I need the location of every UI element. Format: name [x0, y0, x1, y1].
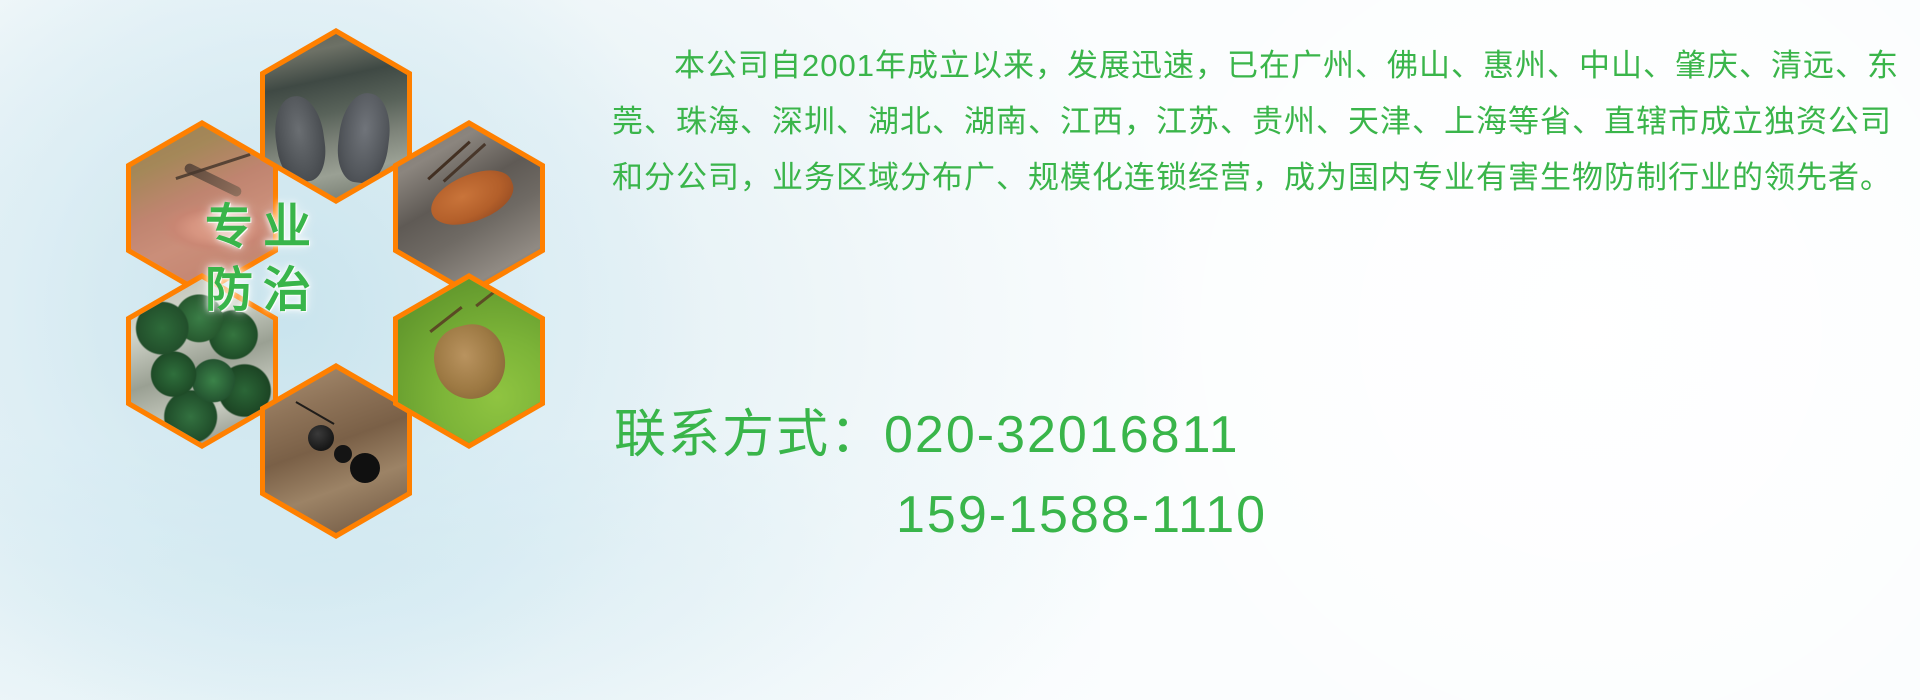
ant-photo	[265, 369, 407, 533]
hex-photo-cockroach	[393, 120, 545, 296]
hex-photo-flies	[126, 273, 278, 449]
stink-bug-photo	[398, 279, 540, 443]
hex-photo-rats	[260, 28, 412, 204]
hex-photo-mosquito	[126, 120, 278, 296]
pest-control-banner: 专业 防治 本公司自2001年成立以来，发展迅速，已在广州、佛山、惠州、中山、肇…	[0, 0, 1920, 700]
company-description-block: 本公司自2001年成立以来，发展迅速，已在广州、佛山、惠州、中山、肇庆、清远、东…	[612, 38, 1912, 206]
cockroach-photo	[398, 126, 540, 290]
mosquito-photo	[131, 126, 273, 290]
company-description-paragraph: 本公司自2001年成立以来，发展迅速，已在广州、佛山、惠州、中山、肇庆、清远、东…	[612, 38, 1912, 206]
honeycomb-photo-collage	[90, 8, 590, 568]
contact-line-landline[interactable]: 联系方式：020-32016811	[614, 395, 1714, 475]
contact-line-mobile[interactable]: 159-1588-1110	[614, 475, 1714, 555]
hex-photo-stink-bug	[393, 273, 545, 449]
hex-photo-ant	[260, 363, 412, 539]
flies-photo	[131, 279, 273, 443]
contact-block: 联系方式：020-32016811 159-1588-1110	[614, 395, 1714, 555]
rats-photo	[265, 34, 407, 198]
